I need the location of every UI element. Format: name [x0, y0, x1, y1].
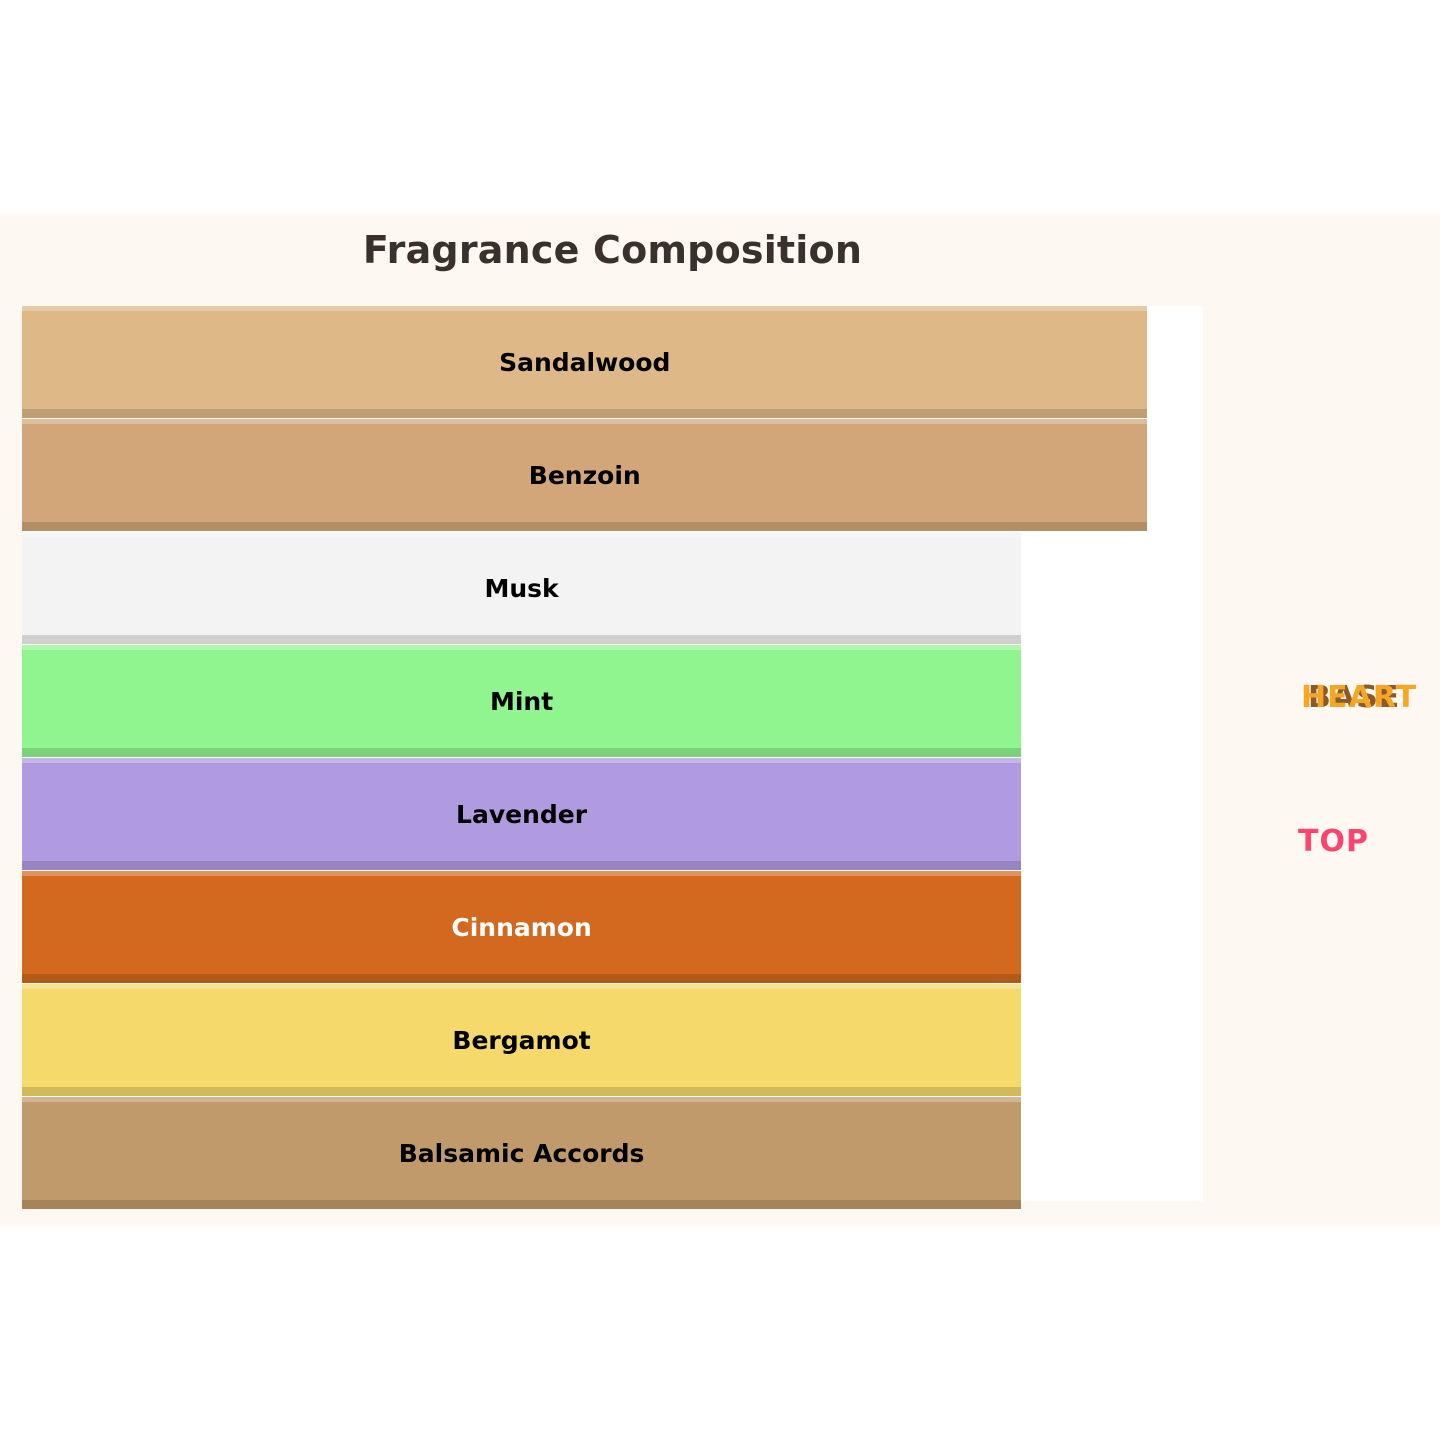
bar-balsamic-accords[interactable]: Balsamic Accords — [22, 1097, 1021, 1209]
bar-benzoin[interactable]: Benzoin — [22, 419, 1147, 531]
bar-top-highlight — [22, 419, 1147, 424]
bar-top-highlight — [22, 1097, 1021, 1102]
stage-label-top: TOP — [1298, 824, 1369, 859]
bar-label: Mint — [490, 687, 553, 716]
bar-lavender[interactable]: Lavender — [22, 758, 1021, 870]
page-title: Fragrance Composition — [22, 228, 1203, 272]
bar-top-highlight — [22, 532, 1021, 537]
bar-label: Lavender — [456, 800, 587, 829]
bar-bottom-shadow — [22, 409, 1147, 418]
bar-mint[interactable]: Mint — [22, 645, 1021, 757]
bar-top-highlight — [22, 984, 1021, 989]
bar-musk[interactable]: Musk — [22, 532, 1021, 644]
bar-bottom-shadow — [22, 974, 1021, 983]
bar-top-highlight — [22, 758, 1021, 763]
bar-series: SandalwoodBenzoinMuskMintLavenderCinnamo… — [22, 306, 1203, 1201]
bar-bergamot[interactable]: Bergamot — [22, 984, 1021, 1096]
stage-label-heart: HEART — [1301, 680, 1417, 715]
bar-top-highlight — [22, 306, 1147, 311]
bar-bottom-shadow — [22, 522, 1147, 531]
bar-bottom-shadow — [22, 1087, 1021, 1096]
bar-sandalwood[interactable]: Sandalwood — [22, 306, 1147, 418]
bar-cinnamon[interactable]: Cinnamon — [22, 871, 1021, 983]
fragrance-composition-chart: Fragrance Composition SandalwoodBenzoinM… — [0, 0, 1440, 1440]
bar-top-highlight — [22, 871, 1021, 876]
bar-label: Cinnamon — [451, 913, 591, 942]
bar-label: Bergamot — [452, 1026, 590, 1055]
bar-bottom-shadow — [22, 861, 1021, 870]
bar-bottom-shadow — [22, 635, 1021, 644]
bar-label: Sandalwood — [499, 348, 670, 377]
bar-top-highlight — [22, 645, 1021, 650]
bar-label: Balsamic Accords — [399, 1139, 645, 1168]
bar-bottom-shadow — [22, 1200, 1021, 1209]
bar-bottom-shadow — [22, 748, 1021, 757]
bar-label: Musk — [484, 574, 558, 603]
bar-label: Benzoin — [529, 461, 641, 490]
